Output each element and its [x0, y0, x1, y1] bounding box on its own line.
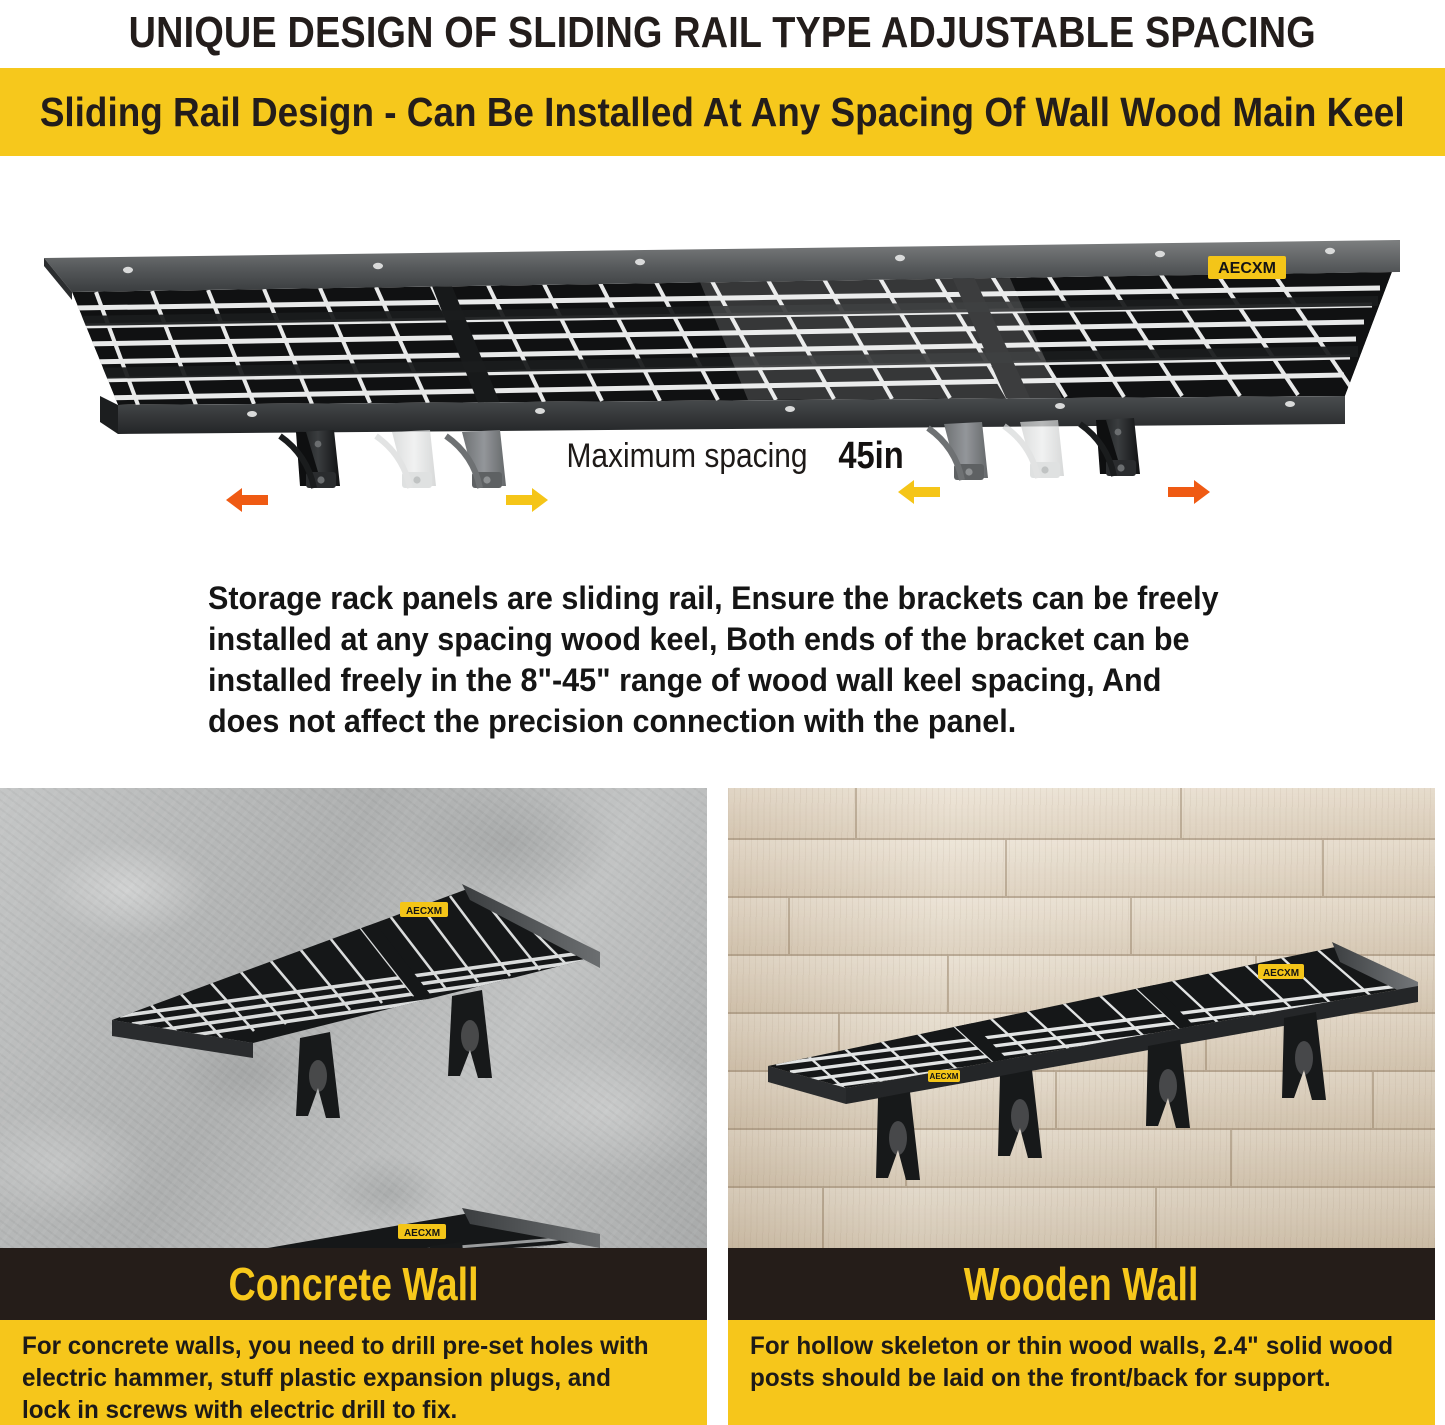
page-title-text: UNIQUE DESIGN OF SLIDING RAIL TYPE ADJUS… — [129, 8, 1316, 58]
infographic-page: UNIQUE DESIGN OF SLIDING RAIL TYPE ADJUS… — [0, 0, 1445, 1425]
shelf-rack-illustration: AECXM — [0, 200, 1445, 540]
max-spacing-value: 45in — [839, 435, 904, 478]
concrete-shelf-lower: AECXM — [112, 1208, 600, 1248]
svg-text:AECXM: AECXM — [1263, 968, 1299, 979]
subtitle-banner: Sliding Rail Design - Can Be Installed A… — [0, 68, 1445, 156]
concrete-shelves-illustration: AECXM — [0, 788, 707, 1248]
panel-concrete-wall: AECXM — [0, 788, 707, 1425]
arrow-right-inner-left-icon — [506, 485, 548, 515]
shelf-diagram: AECXM — [0, 200, 1445, 540]
brand-badge-concrete-upper: AECXM — [400, 902, 448, 917]
svg-text:AECXM: AECXM — [930, 1072, 959, 1081]
caption-body-wooden: For hollow skeleton or thin wood walls, … — [728, 1320, 1435, 1425]
svg-text:AECXM: AECXM — [404, 1228, 440, 1239]
panel-wooden-wall: AECXM AECXM Wooden Wall For hollow skele… — [728, 788, 1435, 1425]
caption-title-concrete-text: Concrete Wall — [228, 1257, 478, 1311]
brand-badge-wood-right: AECXM — [1258, 964, 1304, 979]
bracket-left-mid — [446, 430, 506, 488]
bracket-left-ghost — [376, 430, 436, 488]
page-title: UNIQUE DESIGN OF SLIDING RAIL TYPE ADJUS… — [0, 0, 1445, 66]
max-spacing-label: Maximum spacing — [567, 437, 808, 476]
arrow-left-outer-left-icon — [226, 485, 268, 515]
bracket-left-dark — [280, 430, 340, 488]
brand-badge-wood-left: AECXM — [928, 1070, 960, 1082]
brand-badge-concrete-lower: AECXM — [398, 1224, 446, 1239]
concrete-shelf-upper: AECXM — [112, 884, 600, 1118]
subtitle-text: Sliding Rail Design - Can Be Installed A… — [40, 89, 1405, 136]
wooden-shelf-illustration: AECXM AECXM — [728, 788, 1435, 1248]
bracket-right-mid — [928, 422, 988, 480]
brand-badge-diagram: AECXM — [1208, 256, 1286, 279]
description-text: Storage rack panels are sliding rail, En… — [208, 578, 1230, 742]
wall-type-panels: AECXM — [0, 788, 1445, 1425]
max-spacing-callout: Maximum spacing 45in — [560, 432, 900, 480]
arrow-right-outer-right-icon — [1168, 477, 1210, 507]
bracket-right-ghost — [1004, 420, 1064, 478]
caption-body-concrete: For concrete walls, you need to drill pr… — [0, 1320, 707, 1425]
caption-body-concrete-text: For concrete walls, you need to drill pr… — [22, 1330, 665, 1425]
svg-text:AECXM: AECXM — [406, 906, 442, 917]
arrow-left-inner-right-icon — [898, 477, 940, 507]
description-block: Storage rack panels are sliding rail, En… — [208, 578, 1278, 742]
caption-title-wooden: Wooden Wall — [728, 1248, 1435, 1320]
wooden-wall-photo: AECXM AECXM — [728, 788, 1435, 1248]
concrete-wall-photo: AECXM — [0, 788, 707, 1248]
caption-body-wooden-text: For hollow skeleton or thin wood walls, … — [750, 1330, 1393, 1394]
caption-title-wooden-text: Wooden Wall — [964, 1257, 1199, 1311]
caption-title-concrete: Concrete Wall — [0, 1248, 707, 1320]
svg-text:AECXM: AECXM — [1218, 260, 1276, 277]
bracket-right-dark — [1080, 418, 1140, 476]
